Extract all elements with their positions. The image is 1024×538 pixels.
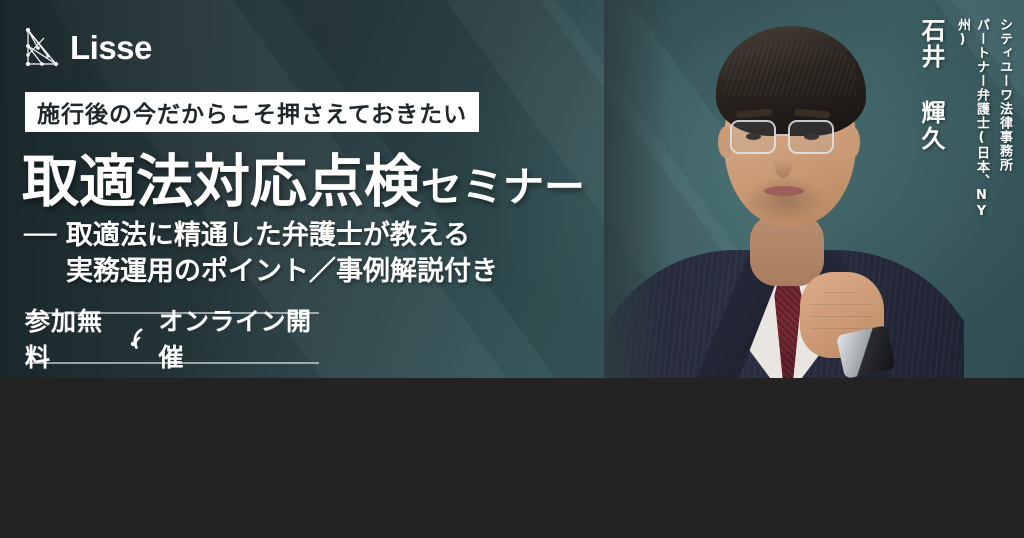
brand-logo[interactable]: Lisse xyxy=(22,26,152,70)
brand-name: Lisse xyxy=(70,29,152,67)
free-label: 参加無料 xyxy=(25,302,119,374)
rss-signal-icon xyxy=(127,326,151,350)
lead-line-2: 実務運用のポイント／事例解説付き xyxy=(24,254,498,290)
lead-copy: ── 取適法に精通した弁護士が教える 実務運用のポイント／事例解説付き xyxy=(24,218,498,290)
portrait-glasses-bridge xyxy=(775,134,789,136)
portrait-stubble xyxy=(744,176,826,224)
seminar-banner: Lisse 施行後の今だからこそ押さえておきたい 取適法対応点検セミナー ── … xyxy=(0,0,1024,538)
schedule-bar: お昼の部 2.12 木 2.13 金 ▶ 12:00−13:30 夕方の部 2.… xyxy=(0,378,1024,538)
network-triangle-logo-icon xyxy=(22,26,60,70)
portrait-ear-right xyxy=(844,126,860,158)
attendance-strip: 参加無料 オンライン開催 xyxy=(25,312,319,364)
portrait-glasses-right xyxy=(788,120,834,154)
portrait-mouth xyxy=(764,186,804,196)
online-label: オンライン開催 xyxy=(159,302,319,374)
speaker-credit: 石井 輝久 パートナー弁護士(日本、NY州) シティユーワ法律事務所 xyxy=(914,18,1014,238)
speaker-affiliation: シティユーワ法律事務所 xyxy=(995,18,1014,172)
speaker-name: 石井 輝久 xyxy=(914,18,949,152)
kicker-badge: 施行後の今だからこそ押さえておきたい xyxy=(25,92,479,132)
speaker-portrait xyxy=(604,0,964,378)
portrait-edge-fade xyxy=(604,0,670,378)
lead-line-1: ── 取適法に精通した弁護士が教える xyxy=(24,220,470,251)
speaker-role: パートナー弁護士(日本、NY州) xyxy=(953,18,991,238)
portrait-nose xyxy=(774,146,792,178)
page-title: 取適法対応点検セミナー xyxy=(22,136,585,218)
title-main: 取適法対応点検 xyxy=(22,149,421,215)
hero-section: Lisse 施行後の今だからこそ押さえておきたい 取適法対応点検セミナー ── … xyxy=(0,0,1024,378)
portrait-glasses-left xyxy=(730,120,776,154)
title-suffix: セミナー xyxy=(421,163,585,211)
